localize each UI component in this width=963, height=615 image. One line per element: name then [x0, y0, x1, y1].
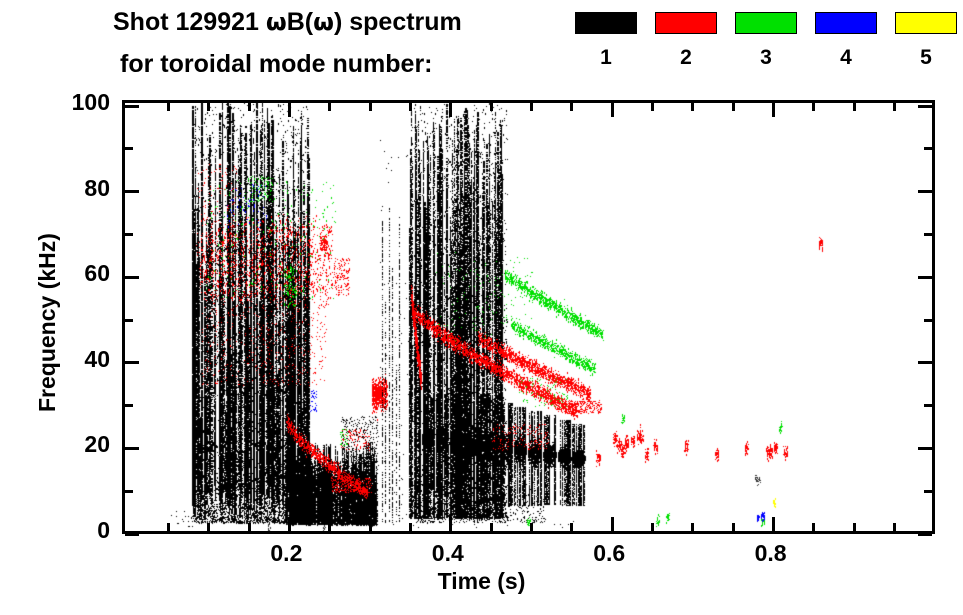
y-tick-major — [918, 361, 932, 364]
y-tick-minor — [125, 147, 133, 150]
y-tick-major — [125, 361, 139, 364]
x-tick-minor — [369, 523, 372, 531]
figure-header: Shot 129921 ωB(ω) spectrum for toroidal … — [0, 0, 963, 95]
y-tick-label: 0 — [50, 517, 110, 544]
x-tick-minor — [812, 523, 815, 531]
spectrogram-canvas-wrap — [125, 103, 932, 531]
x-tick-label: 0.8 — [731, 540, 811, 567]
legend-label-1: 1 — [575, 47, 637, 68]
x-tick-minor — [490, 523, 493, 531]
x-tick-minor — [248, 103, 251, 111]
legend: 1 2 3 4 5 — [575, 12, 955, 92]
legend-item-1[interactable]: 1 — [575, 12, 637, 68]
x-tick-minor — [530, 523, 533, 531]
y-tick-minor — [125, 319, 133, 322]
legend-swatch-1 — [575, 12, 637, 34]
x-tick-minor — [490, 103, 493, 111]
x-tick-minor — [530, 103, 533, 111]
legend-swatch-3 — [735, 12, 797, 34]
x-tick-minor — [732, 523, 735, 531]
legend-item-2[interactable]: 2 — [655, 12, 717, 68]
omega-symbol-2: ω — [313, 8, 334, 36]
x-tick-major — [772, 103, 775, 117]
x-tick-minor — [691, 523, 694, 531]
x-tick-major — [772, 517, 775, 531]
x-tick-minor — [328, 523, 331, 531]
x-tick-minor — [369, 103, 372, 111]
x-axis-label: Time (s) — [0, 568, 963, 595]
y-tick-label: 20 — [50, 431, 110, 458]
legend-label-4: 4 — [815, 47, 877, 68]
x-tick-minor — [167, 523, 170, 531]
x-tick-minor — [651, 103, 654, 111]
y-tick-major — [125, 105, 139, 108]
x-tick-minor — [853, 103, 856, 111]
y-tick-major — [918, 105, 932, 108]
x-tick-label: 0.4 — [408, 540, 488, 567]
y-tick-minor — [924, 319, 932, 322]
y-tick-minor — [125, 490, 133, 493]
legend-label-2: 2 — [655, 47, 717, 68]
y-tick-minor — [924, 147, 932, 150]
figure-title-line-1: Shot 129921 ωB(ω) spectrum — [113, 8, 462, 37]
y-tick-major — [918, 447, 932, 450]
x-tick-minor — [732, 103, 735, 111]
legend-swatch-5 — [895, 12, 957, 34]
x-tick-minor — [207, 523, 210, 531]
x-tick-minor — [570, 103, 573, 111]
y-tick-major — [125, 276, 139, 279]
spectrogram-figure: Shot 129921 ωB(ω) spectrum for toroidal … — [0, 0, 963, 615]
x-tick-minor — [207, 103, 210, 111]
y-tick-minor — [125, 233, 133, 236]
title-text-spectrum: ) spectrum — [334, 8, 462, 36]
legend-swatch-4 — [815, 12, 877, 34]
y-tick-minor — [924, 404, 932, 407]
x-tick-minor — [853, 523, 856, 531]
x-tick-minor — [691, 103, 694, 111]
y-tick-major — [918, 190, 932, 193]
x-tick-minor — [893, 103, 896, 111]
y-tick-major — [125, 447, 139, 450]
x-tick-major — [449, 103, 452, 117]
x-tick-minor — [167, 103, 170, 111]
omega-symbol-1: ω — [266, 8, 287, 36]
x-tick-minor — [570, 523, 573, 531]
y-tick-minor — [924, 490, 932, 493]
legend-item-5[interactable]: 5 — [895, 12, 957, 68]
y-tick-major — [125, 190, 139, 193]
title-text-shot: Shot 129921 — [113, 8, 266, 36]
x-tick-label: 0.2 — [246, 540, 326, 567]
legend-swatch-2 — [655, 12, 717, 34]
x-tick-minor — [409, 523, 412, 531]
x-tick-major — [611, 103, 614, 117]
y-tick-minor — [125, 404, 133, 407]
y-axis-label: Frequency (kHz) — [34, 233, 61, 412]
legend-item-3[interactable]: 3 — [735, 12, 797, 68]
title-text-b: B( — [287, 8, 313, 36]
x-tick-major — [288, 103, 291, 117]
y-tick-minor — [924, 233, 932, 236]
y-tick-major — [918, 276, 932, 279]
spectrogram-canvas — [125, 103, 932, 531]
y-tick-major — [918, 533, 932, 536]
x-tick-minor — [651, 523, 654, 531]
x-tick-minor — [812, 103, 815, 111]
plot-area — [122, 100, 935, 534]
figure-title-line-2: for toroidal mode number: — [120, 50, 433, 79]
legend-item-4[interactable]: 4 — [815, 12, 877, 68]
x-tick-minor — [328, 103, 331, 111]
legend-label-5: 5 — [895, 47, 957, 68]
y-tick-major — [125, 533, 139, 536]
x-tick-minor — [409, 103, 412, 111]
x-tick-label: 0.6 — [569, 540, 649, 567]
x-tick-minor — [248, 523, 251, 531]
x-tick-major — [449, 517, 452, 531]
y-tick-label: 80 — [50, 175, 110, 202]
x-tick-major — [611, 517, 614, 531]
y-tick-label: 100 — [50, 89, 110, 116]
x-tick-major — [288, 517, 291, 531]
legend-label-3: 3 — [735, 47, 797, 68]
x-tick-minor — [893, 523, 896, 531]
